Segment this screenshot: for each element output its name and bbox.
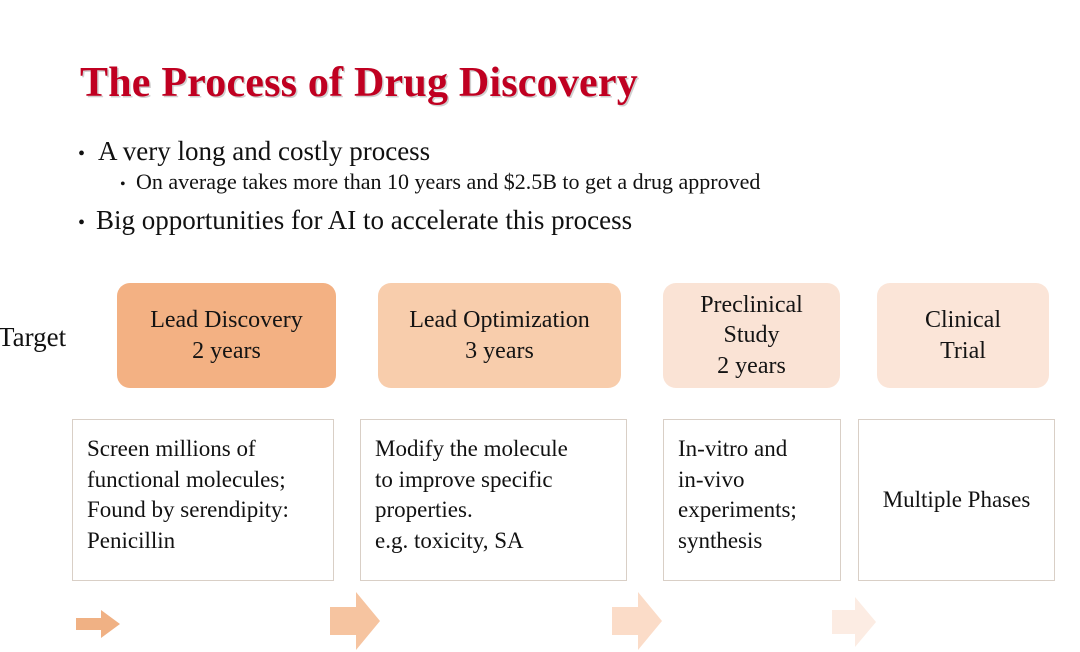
stage-line: 2 years bbox=[669, 351, 834, 381]
bullet-text: A very long and costly process bbox=[98, 136, 430, 167]
bullet-list: • A very long and costly process • On av… bbox=[78, 136, 1018, 236]
bullet-item-1: • A very long and costly process bbox=[78, 136, 1018, 167]
description-line: functional molecules; bbox=[87, 465, 320, 496]
description-line: Multiple Phases bbox=[883, 485, 1031, 516]
lead-optimization-description: Modify the molecule to improve specific … bbox=[360, 419, 627, 581]
lead-discovery-description: Screen millions of functional molecules;… bbox=[72, 419, 334, 581]
bullet-marker-icon: • bbox=[78, 144, 98, 164]
bullet-marker-icon: • bbox=[78, 213, 96, 233]
clinical-trial-description: Multiple Phases bbox=[858, 419, 1055, 581]
bullet-item-2: • On average takes more than 10 years an… bbox=[120, 169, 1018, 195]
description-line: e.g. toxicity, SA bbox=[375, 526, 613, 557]
description-line: In-vitro and bbox=[678, 434, 827, 465]
stage-line: Preclinical bbox=[669, 290, 834, 320]
bullet-text: Big opportunities for AI to accelerate t… bbox=[96, 205, 632, 236]
stage-line: Lead Discovery bbox=[123, 305, 330, 335]
description-line: properties. bbox=[375, 495, 613, 526]
flow-stage-preclinical-study[interactable]: Preclinical Study 2 years bbox=[663, 283, 840, 388]
arrow-right-icon bbox=[612, 590, 662, 652]
arrow-right-icon bbox=[832, 595, 876, 649]
stage-line: 2 years bbox=[123, 336, 330, 366]
description-line: Modify the molecule bbox=[375, 434, 613, 465]
description-line: to improve specific bbox=[375, 465, 613, 496]
description-line: Screen millions of bbox=[87, 434, 320, 465]
arrow-right-icon bbox=[76, 609, 120, 639]
page-title: The Process of Drug Discovery bbox=[80, 59, 638, 107]
stage-line: 3 years bbox=[384, 336, 615, 366]
stage-line: Lead Optimization bbox=[384, 305, 615, 335]
stage-line: Trial bbox=[883, 336, 1043, 366]
flow-stage-lead-optimization[interactable]: Lead Optimization 3 years bbox=[378, 283, 621, 388]
bullet-marker-icon: • bbox=[120, 177, 136, 193]
preclinical-study-description: In-vitro and in-vivo experiments; synthe… bbox=[663, 419, 841, 581]
flow-stage-clinical-trial[interactable]: Clinical Trial bbox=[877, 283, 1049, 388]
stage-line: Study bbox=[669, 320, 834, 350]
flow-stage-lead-discovery[interactable]: Lead Discovery 2 years bbox=[117, 283, 336, 388]
arrow-right-icon bbox=[330, 590, 380, 652]
slide-canvas: The Process of Drug Discovery • A very l… bbox=[0, 0, 1080, 608]
description-line: experiments; bbox=[678, 495, 827, 526]
bullet-text: On average takes more than 10 years and … bbox=[136, 169, 760, 195]
description-line: synthesis bbox=[678, 526, 827, 557]
bullet-item-3: • Big opportunities for AI to accelerate… bbox=[78, 205, 1018, 236]
process-flow-diagram: Lead Discovery 2 years Lead Optimization… bbox=[0, 283, 1080, 395]
stage-line: Clinical bbox=[883, 305, 1043, 335]
description-line: Found by serendipity: bbox=[87, 495, 320, 526]
description-line: in-vivo bbox=[678, 465, 827, 496]
description-line: Penicillin bbox=[87, 526, 320, 557]
